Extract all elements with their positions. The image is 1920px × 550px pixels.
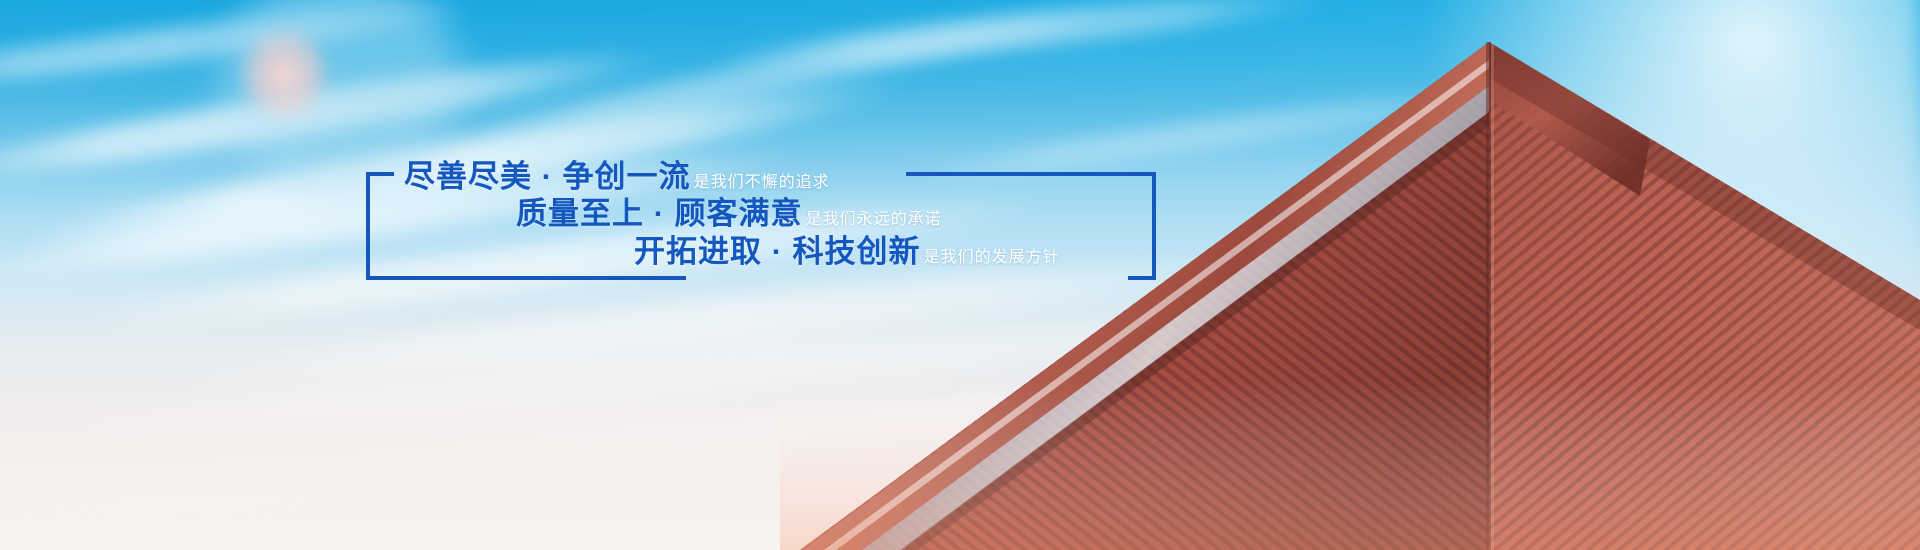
slogan-headline-2: 质量至上 · 顾客满意 — [516, 194, 803, 234]
sky-bottom-haze — [0, 250, 1920, 550]
slogan-line-3: 开拓进取 · 科技创新 是我们的发展方针 — [634, 232, 1060, 278]
bracket-bottom-right-stub — [1128, 276, 1156, 280]
slogan-block: 尽善尽美 · 争创一流 是我们不懈的追求 质量至上 · 顾客满意 是我们永远的承… — [366, 162, 1156, 280]
bracket-left-edge — [366, 172, 370, 276]
bracket-top-left-stub — [366, 172, 394, 176]
slogan-tagline-3: 是我们的发展方针 — [924, 238, 1060, 278]
slogan-headline-3: 开拓进取 · 科技创新 — [634, 232, 921, 272]
lens-flare-icon — [236, 26, 332, 122]
hero-banner: 尽善尽美 · 争创一流 是我们不懈的追求 质量至上 · 顾客满意 是我们永远的承… — [0, 0, 1920, 550]
slogan-headline-1: 尽善尽美 · 争创一流 — [404, 157, 691, 197]
bracket-top-edge — [906, 172, 1156, 176]
sun-glow — [1360, 0, 1920, 280]
bracket-right-edge — [1152, 172, 1156, 276]
